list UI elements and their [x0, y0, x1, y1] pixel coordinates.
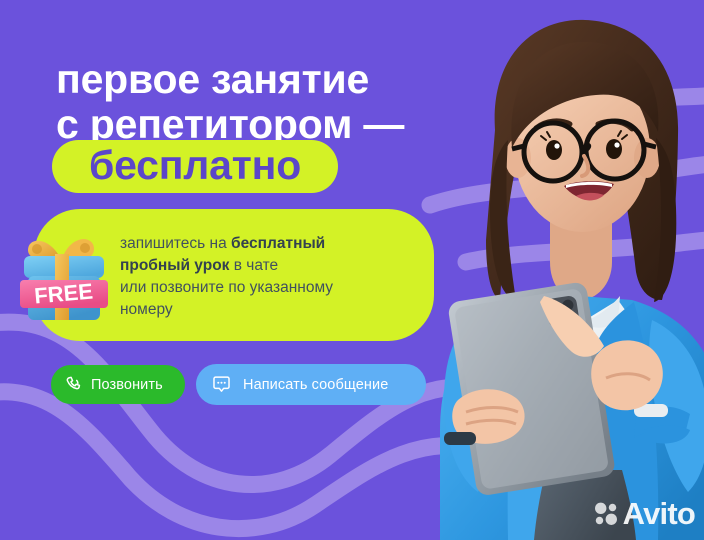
avito-wordmark: Avito: [623, 498, 695, 529]
tutor-character-illustration: [400, 0, 704, 540]
message-button[interactable]: Написать сообщение: [196, 364, 426, 405]
phone-icon: [64, 375, 83, 394]
avito-watermark: Avito: [593, 498, 695, 529]
headline-line-1: первое занятие: [56, 57, 404, 102]
page-title: первое занятие с репетитором —: [56, 57, 404, 147]
gift-free-label: FREE: [33, 279, 94, 309]
offer-card-text: запишитесь на бесплатный пробный урок в …: [120, 233, 420, 321]
avito-dots-icon: [593, 501, 619, 527]
free-highlight-label: бесплатно: [89, 145, 301, 189]
chat-bubble-icon: [211, 374, 232, 395]
message-button-label: Написать сообщение: [243, 377, 388, 393]
offer-line-1: запишитесь на бесплатный: [120, 233, 420, 255]
call-button-label: Позвонить: [91, 377, 163, 393]
offer-line-4: номеру: [120, 299, 420, 321]
call-button[interactable]: Позвонить: [51, 365, 185, 404]
free-highlight-pill: бесплатно: [52, 140, 338, 193]
offer-line-3: или позвоните по указанному: [120, 277, 420, 299]
offer-line-2: пробный урок в чате: [120, 255, 420, 277]
avito-ad-banner: первое занятие с репетитором — бесплатно…: [0, 0, 704, 540]
gift-box-icon: FREE: [12, 226, 116, 330]
